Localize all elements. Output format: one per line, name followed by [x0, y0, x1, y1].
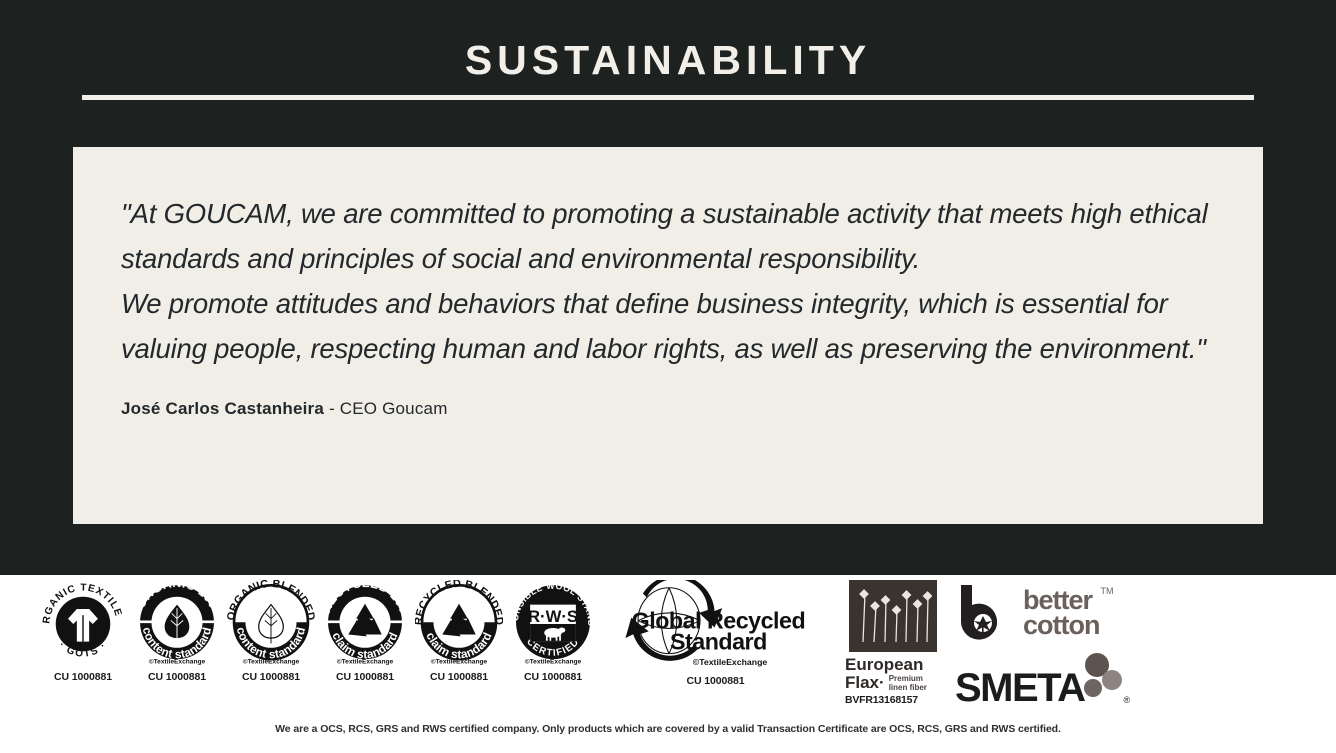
cert-recycled-blended: RECYCLED BLENDED claim standard ©Textile…	[414, 580, 504, 683]
smeta-circles-icon	[1079, 652, 1123, 706]
flax-line-1: European	[845, 656, 941, 674]
cert-recycled-100: RECYCLED 100 claim standard ©TextileExch…	[320, 580, 410, 683]
svg-text:©TextileExchange: ©TextileExchange	[337, 658, 394, 666]
certification-band: GLOBAL ORGANIC TEXTILE STANDARD · GOTS ·…	[0, 575, 1336, 753]
better-cotton-line-2: cotton	[1023, 613, 1099, 638]
page-title: SUSTAINABILITY	[0, 40, 1336, 81]
title-divider	[82, 95, 1254, 100]
cert-caption: CU 1000881	[524, 671, 582, 683]
smeta-wordmark: SMETA	[955, 668, 1085, 708]
quote-paragraph-1: "At GOUCAM, we are committed to promotin…	[121, 191, 1213, 281]
cert-caption: CU 1000881	[336, 671, 394, 683]
cert-european-flax: European Flax· Premium linen fiber BVFR1…	[845, 580, 941, 706]
cert-gots: GLOBAL ORGANIC TEXTILE STANDARD · GOTS ·…	[38, 580, 128, 683]
recycled-100-icon: RECYCLED 100 claim standard ©TextileExch…	[321, 580, 409, 668]
cert-caption: CU 1000881	[430, 671, 488, 683]
flax-subtitle: Premium linen fiber	[889, 674, 927, 692]
registered-mark: ®	[1124, 695, 1131, 705]
sustainability-slide: SUSTAINABILITY "At GOUCAM, we are commit…	[0, 0, 1336, 753]
cert-organic-blended: ORGANIC BLENDED content standard ©Textil…	[226, 580, 316, 683]
flax-line-2: Flax·	[845, 674, 885, 692]
flax-license-code: BVFR13168157	[845, 694, 941, 706]
quote-text: "At GOUCAM, we are committed to promotin…	[121, 191, 1213, 371]
attribution-author: José Carlos Castanheira	[121, 399, 324, 418]
organic-blended-icon: ORGANIC BLENDED content standard ©Textil…	[227, 580, 315, 668]
european-flax-icon	[849, 580, 937, 652]
trademark-mark: TM	[1100, 586, 1113, 596]
partner-logos: European Flax· Premium linen fiber BVFR1…	[845, 580, 1130, 708]
european-flax-wordmark: European Flax· Premium linen fiber BVFR1…	[845, 656, 941, 706]
svg-text:©TextileExchange: ©TextileExchange	[693, 657, 768, 667]
cert-caption: CU 1000881	[148, 671, 206, 683]
cert-better-cotton: better cotton TM	[955, 580, 1130, 646]
rws-icon: RESPONSIBLE WOOL STANDARD CERTIFIED R·W·…	[509, 580, 597, 668]
quote-panel: "At GOUCAM, we are committed to promotin…	[73, 147, 1263, 524]
certification-note: We are a OCS, RCS, GRS and RWS certified…	[0, 723, 1336, 735]
svg-text:©TextileExchange: ©TextileExchange	[525, 658, 582, 666]
quote-paragraph-2: We promote attitudes and behaviors that …	[121, 281, 1213, 371]
gots-icon: GLOBAL ORGANIC TEXTILE STANDARD · GOTS ·	[39, 580, 127, 668]
cert-global-recycled-standard: Global Recycled Standard ©TextileExchang…	[608, 580, 823, 687]
svg-text:©TextileExchange: ©TextileExchange	[243, 658, 300, 666]
cert-organic-100: ORGANIC 100 content standard ©TextileExc…	[132, 580, 222, 683]
recycled-blended-icon: RECYCLED BLENDED claim standard ©Textile…	[415, 580, 503, 668]
certification-logo-row: GLOBAL ORGANIC TEXTILE STANDARD · GOTS ·…	[38, 580, 1308, 720]
cert-smeta: SMETA ®	[955, 650, 1130, 708]
better-cotton-wordmark: better cotton TM	[1023, 588, 1099, 638]
svg-text:©TextileExchange: ©TextileExchange	[431, 658, 488, 666]
attribution-role: - CEO Goucam	[324, 399, 448, 418]
better-cotton-smeta-group: better cotton TM SMETA ®	[955, 580, 1130, 708]
svg-text:R·W·S: R·W·S	[528, 607, 578, 626]
cert-rws: RESPONSIBLE WOOL STANDARD CERTIFIED R·W·…	[508, 580, 598, 683]
cert-caption: CU 1000881	[242, 671, 300, 683]
global-recycled-standard-icon: Global Recycled Standard ©TextileExchang…	[613, 580, 818, 672]
svg-text:Standard: Standard	[670, 629, 767, 655]
hero-section: SUSTAINABILITY "At GOUCAM, we are commit…	[0, 0, 1336, 575]
svg-text:©TextileExchange: ©TextileExchange	[149, 658, 206, 666]
cert-caption: CU 1000881	[54, 671, 112, 683]
better-cotton-icon	[955, 582, 1017, 644]
cert-caption: CU 1000881	[687, 675, 745, 687]
quote-attribution: José Carlos Castanheira - CEO Goucam	[121, 399, 1213, 419]
organic-100-icon: ORGANIC 100 content standard ©TextileExc…	[133, 580, 221, 668]
